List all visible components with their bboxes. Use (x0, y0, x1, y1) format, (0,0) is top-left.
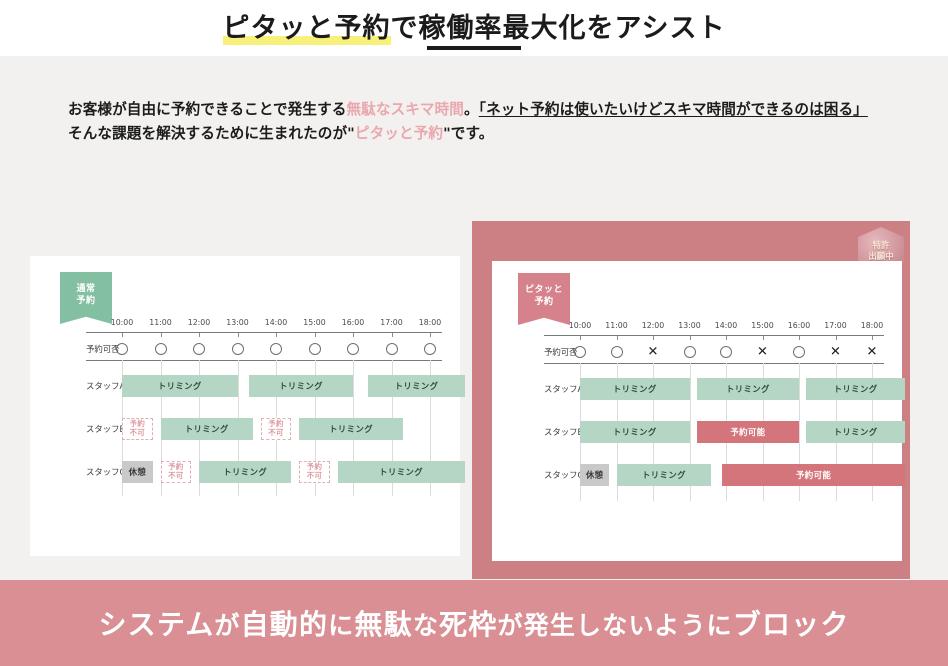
time-label: 15:00 (303, 318, 325, 327)
banner-seg-h: が発生しないように (497, 611, 732, 640)
time-axis-line (544, 335, 884, 336)
schedule-bar-free[interactable]: 予約可能 (697, 421, 799, 443)
availability-row-label: 予約可否 (544, 346, 578, 358)
lead-part-1: お客様が自由に予約できることで発生する (68, 101, 346, 118)
schedule-bar-trim[interactable]: トリミング (161, 418, 253, 440)
time-label: 17:00 (380, 318, 402, 327)
circle-icon (309, 343, 321, 355)
lead-pink-1: 無駄なスキマ時間 (346, 101, 464, 118)
time-axis-line (86, 332, 442, 333)
banner-seg-c: 自動的 (241, 608, 329, 641)
axis-tick (392, 333, 393, 337)
axis-tick (726, 336, 727, 340)
time-label: 16:00 (342, 318, 364, 327)
time-label: 15:00 (751, 321, 773, 330)
schedule-bar-block[interactable]: 予約不可 (261, 418, 292, 440)
circle-icon (720, 346, 732, 358)
cross-icon: ✕ (648, 346, 659, 359)
normal-reservation-panel: 通常 予約 10:0011:0012:0013:0014:0015:0016:0… (30, 256, 460, 556)
axis-tick (122, 333, 123, 337)
schedule-bar-block[interactable]: 予約不可 (299, 461, 330, 483)
time-label: 14:00 (265, 318, 287, 327)
lead-underline: 「ネット予約は使いたいけどスキマ時間ができるのは困る」 (479, 101, 868, 118)
schedule-bar-trim[interactable]: トリミング (122, 375, 238, 397)
bar-text-line2: 不可 (268, 429, 284, 438)
schedule-bar-trim[interactable]: トリミング (806, 378, 905, 400)
circle-icon (232, 343, 244, 355)
axis-tick (276, 333, 277, 337)
banner-seg-g: 死枠 (439, 608, 497, 641)
cross-icon: ✕ (830, 346, 841, 359)
schedule-chart-normal: 10:0011:0012:0013:0014:0015:0016:0017:00… (30, 256, 460, 556)
schedule-bar-free[interactable]: 予約可能 (722, 464, 905, 486)
availability-divider (544, 363, 884, 364)
time-label: 16:00 (788, 321, 810, 330)
schedule-bar-trim[interactable]: トリミング (249, 375, 353, 397)
staff-row-label: スタッフA (544, 383, 583, 395)
time-label: 11:00 (149, 318, 171, 327)
lead-part-2: 。 (464, 101, 479, 118)
axis-tick (161, 333, 162, 337)
banner-seg-b: が (214, 611, 240, 640)
time-label: 18:00 (861, 321, 883, 330)
staff-row-label: スタッフC (544, 469, 583, 481)
time-label: 12:00 (188, 318, 210, 327)
time-label: 10:00 (111, 318, 133, 327)
schedule-bar-block[interactable]: 予約不可 (122, 418, 153, 440)
banner-seg-d: に (328, 611, 354, 640)
schedule-bar-trim[interactable]: トリミング (580, 378, 690, 400)
axis-tick (580, 336, 581, 340)
axis-tick (799, 336, 800, 340)
availability-divider (86, 360, 442, 361)
schedule-bar-trim[interactable]: トリミング (199, 461, 291, 483)
time-label: 10:00 (569, 321, 591, 330)
banner-seg-e: 無駄 (354, 608, 412, 641)
circle-icon (574, 346, 586, 358)
schedule-bar-trim[interactable]: トリミング (617, 464, 712, 486)
axis-tick (872, 336, 873, 340)
page-title-rest: で稼働率最大化をアシスト (391, 13, 726, 44)
circle-icon (193, 343, 205, 355)
infographic-page: ピタッと予約で稼働率最大化をアシスト お客様が自由に予約できることで発生する無駄… (0, 0, 948, 666)
circle-icon (116, 343, 128, 355)
time-label: 14:00 (715, 321, 737, 330)
axis-tick (353, 333, 354, 337)
circle-icon (684, 346, 696, 358)
lead-paragraph: お客様が自由に予約できることで発生する無駄なスキマ時間。「ネット予約は使いたいけ… (68, 98, 880, 145)
axis-tick (315, 333, 316, 337)
pitatto-reservation-panel: ピタッと 予約 10:0011:0012:0013:0014:0015:0016… (492, 261, 902, 561)
bar-text-line2: 不可 (130, 429, 146, 438)
schedule-bar-rest[interactable]: 休憩 (580, 464, 609, 486)
staff-row-label: スタッフB (86, 423, 125, 435)
axis-tick (430, 333, 431, 337)
schedule-bar-trim[interactable]: トリミング (368, 375, 464, 397)
schedule-bar-rest[interactable]: 休憩 (122, 461, 153, 483)
circle-icon (424, 343, 436, 355)
staff-row-label: スタッフB (544, 426, 583, 438)
circle-icon (386, 343, 398, 355)
time-label: 11:00 (605, 321, 627, 330)
lead-part-3: そんな課題を解決するために生まれたのが" (68, 125, 355, 142)
circle-icon (793, 346, 805, 358)
lead-pink-2: ピタッと予約 (355, 125, 443, 142)
axis-tick (836, 336, 837, 340)
bottom-banner-text: システムが自動的に無駄な死枠が発生しないようにブロック (98, 603, 849, 643)
page-title: ピタッと予約で稼働率最大化をアシスト (0, 6, 948, 45)
bar-text-line2: 不可 (307, 472, 323, 481)
patent-badge-line1: 特許 (872, 241, 889, 251)
axis-tick (238, 333, 239, 337)
patent-badge-text: 特許 出願中 (868, 241, 894, 262)
page-title-highlight: ピタッと予約 (223, 13, 391, 45)
banner-seg-i: ブロック (733, 608, 850, 641)
schedule-bar-trim[interactable]: トリミング (580, 421, 690, 443)
banner-seg-f: な (413, 611, 439, 640)
title-strip: ピタッと予約で稼働率最大化をアシスト (0, 0, 948, 56)
axis-tick (617, 336, 618, 340)
circle-icon (347, 343, 359, 355)
circle-icon (270, 343, 282, 355)
bottom-banner: システムが自動的に無駄な死枠が発生しないようにブロック (0, 580, 948, 666)
schedule-bar-block[interactable]: 予約不可 (161, 461, 192, 483)
availability-row-label: 予約可否 (86, 343, 120, 355)
time-label: 17:00 (824, 321, 846, 330)
schedule-bar-trim[interactable]: トリミング (299, 418, 403, 440)
schedule-bar-trim[interactable]: トリミング (806, 421, 905, 443)
body-area: お客様が自由に予約できることで発生する無駄なスキマ時間。「ネット予約は使いたいけ… (0, 56, 948, 580)
schedule-chart-pitatto: 10:0011:0012:0013:0014:0015:0016:0017:00… (492, 261, 902, 561)
axis-tick (690, 336, 691, 340)
cross-icon: ✕ (757, 346, 768, 359)
bar-text-line2: 不可 (168, 472, 184, 481)
staff-row-label: スタッフC (86, 466, 125, 478)
schedule-bar-trim[interactable]: トリミング (338, 461, 465, 483)
schedule-bar-trim[interactable]: トリミング (697, 378, 799, 400)
circle-icon (611, 346, 623, 358)
time-label: 13:00 (678, 321, 700, 330)
staff-row-label: スタッフA (86, 380, 125, 392)
time-label: 12:00 (642, 321, 664, 330)
axis-tick (199, 333, 200, 337)
title-underline-rule (427, 46, 521, 50)
circle-icon (155, 343, 167, 355)
time-label: 13:00 (226, 318, 248, 327)
axis-tick (763, 336, 764, 340)
banner-seg-a: システム (98, 608, 214, 641)
axis-tick (653, 336, 654, 340)
pitatto-panel-frame: 特許 出願中 ピタッと 予約 10:0011:0012:0013:0014:00… (472, 221, 910, 579)
lead-part-4: "です。 (443, 125, 493, 142)
time-label: 18:00 (419, 318, 441, 327)
cross-icon: ✕ (867, 346, 878, 359)
